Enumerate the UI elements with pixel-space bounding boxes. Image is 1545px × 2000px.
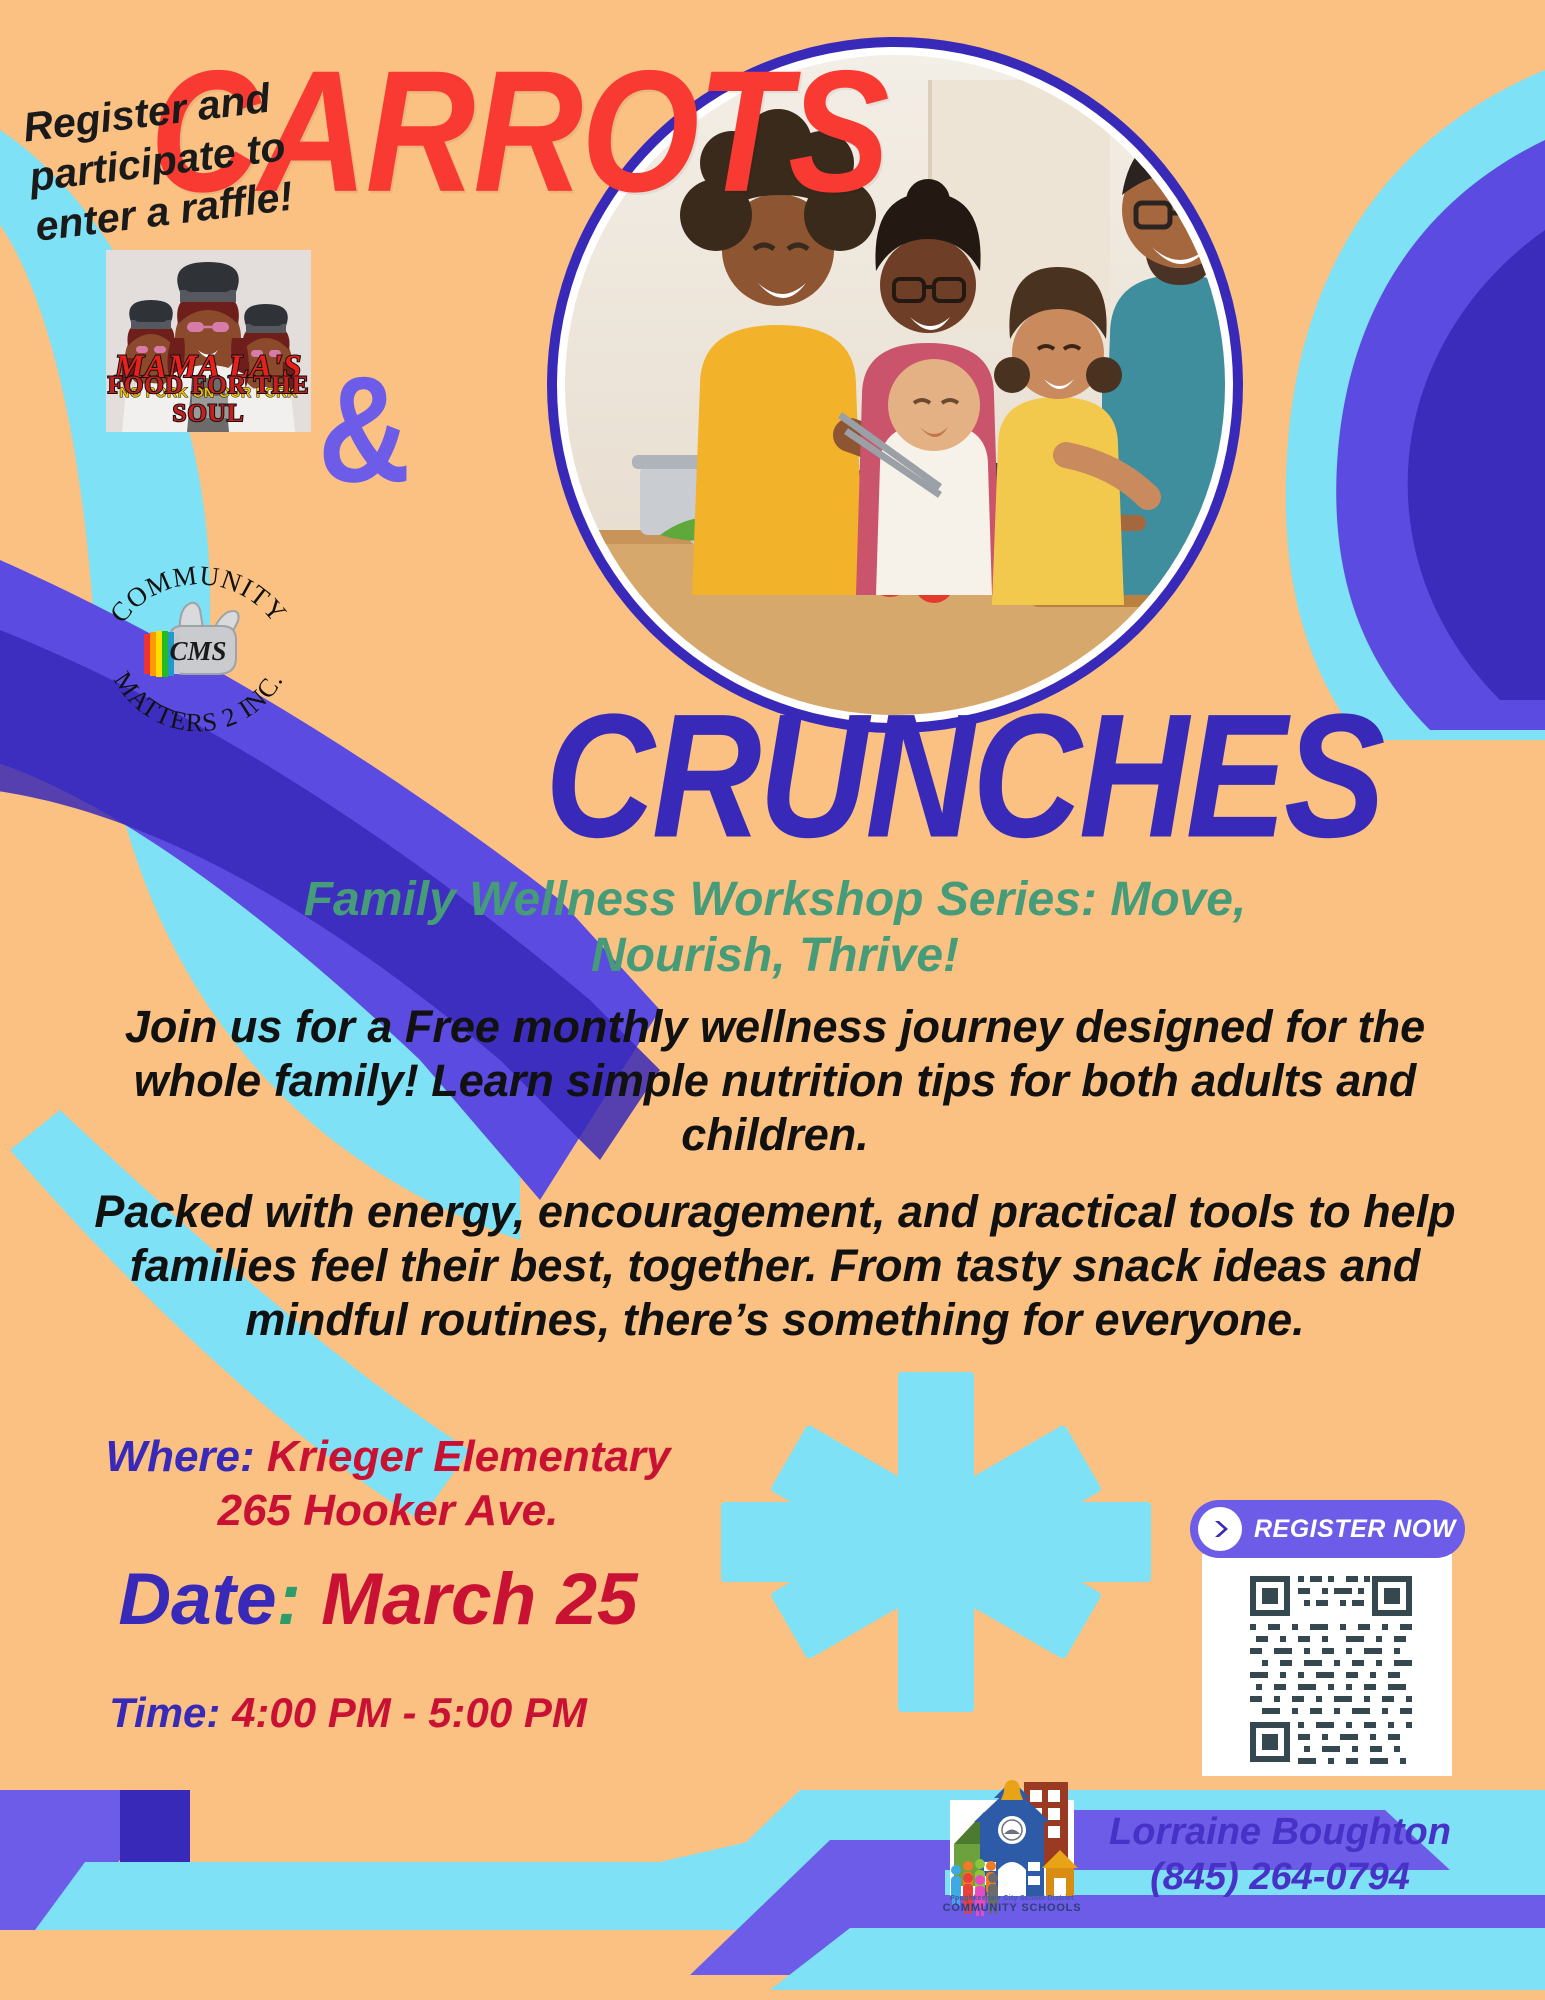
page-title-crunches: CRUNCHES [545,688,1382,864]
qr-code[interactable] [1202,1554,1452,1776]
subtitle-line-1: Family Wellness Workshop Series: Move, [150,872,1400,928]
chevron-right-glyph [1209,1518,1231,1540]
time-value: 4:00 PM - 5:00 PM [232,1689,587,1736]
time-label: Time: [109,1689,220,1736]
where-value-line-2: 265 Hooker Ave. [218,1486,559,1535]
mamalas-logo: MAMA LA'S NO PORK ON OUR FORK FOOD FOR T… [106,250,311,432]
community-matters-2-logo: COMMUNITY MATTERS 2 INC. CMS [86,542,311,732]
subtitle: Family Wellness Workshop Series: Move, N… [150,872,1400,983]
where-value-line-1: Krieger Elementary [267,1432,671,1481]
time-block: Time: 4:00 PM - 5:00 PM [48,1690,648,1736]
svg-text:MATTERS 2 INC.: MATTERS 2 INC. [108,666,289,732]
date-value: March 25 [321,1559,638,1640]
school-district-label: Poughkeepsie City School District [932,1895,1092,1902]
date-block: Date: March 25 [48,1560,708,1640]
cm-arc-bottom: MATTERS 2 INC. [108,666,289,732]
raffle-starburst [706,1372,1166,1712]
mamalas-subtitle: FOOD FOR THE SOUL [106,372,311,428]
contact-block: Lorraine Boughton (845) 264-0794 [1090,1810,1470,1900]
chevron-right-icon [1198,1507,1242,1551]
cm-monogram: CMS [169,636,226,666]
qr-code-image [1202,1554,1452,1776]
poughkeepsie-community-schools-logo: Poughkeepsie City School District COMMUN… [932,1772,1092,1922]
community-schools-label: COMMUNITY SCHOOLS [932,1902,1092,1914]
date-label: Date [118,1559,276,1640]
register-now-label: REGISTER NOW [1254,1515,1456,1544]
date-colon: : [277,1559,301,1640]
contact-phone[interactable]: (845) 264-0794 [1090,1855,1470,1900]
body-paragraph-1: Join us for a Free monthly wellness jour… [95,1000,1455,1162]
where-label: Where: [106,1432,255,1481]
register-now-button[interactable]: REGISTER NOW [1190,1500,1465,1558]
contact-name: Lorraine Boughton [1090,1810,1470,1855]
body-paragraph-2: Packed with energy, encouragement, and p… [85,1185,1465,1347]
flyer-poster: CARROTS & CRUNCHES [0,0,1545,2000]
where-block: Where: Krieger Elementary 265 Hooker Ave… [48,1430,728,1537]
subtitle-line-2: Nourish, Thrive! [150,928,1400,984]
title-ampersand: & [318,355,410,506]
